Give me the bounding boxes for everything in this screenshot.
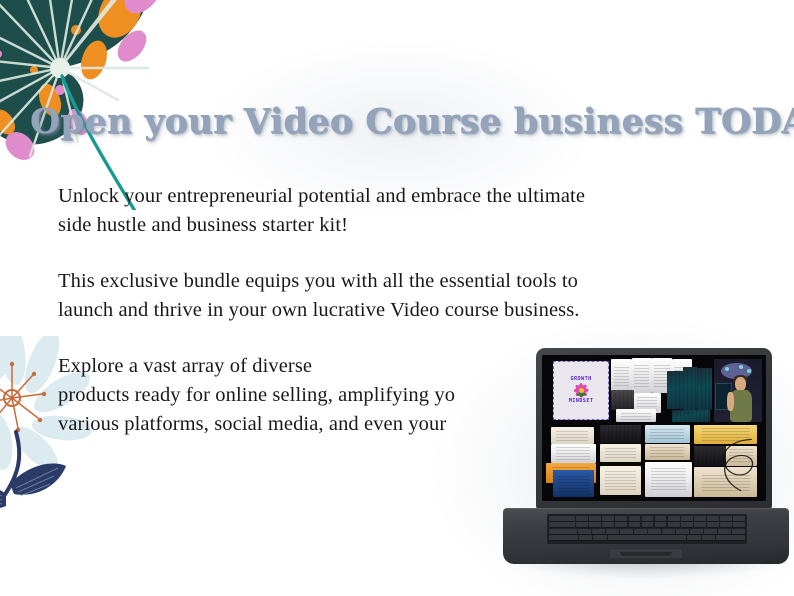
pixel-flower-icon [574, 383, 589, 398]
spark-icon [725, 367, 729, 371]
keyboard-key [549, 522, 575, 527]
product-thumbnail [553, 470, 593, 496]
keyboard-key [578, 529, 591, 534]
laptop-screen: GROWTH [542, 355, 766, 501]
thumbnail-detail [672, 410, 710, 422]
keyboard-key [648, 529, 661, 534]
keyboard-key [694, 516, 706, 521]
keyboard-key [629, 516, 641, 521]
keyboard-key [593, 535, 606, 540]
thumbnail-detail [667, 371, 683, 409]
product-thumbnail [694, 446, 725, 466]
keyboard-key [589, 522, 601, 527]
paragraph-1: Unlock your entrepreneurial potential an… [58, 182, 718, 240]
product-thumbnail [697, 368, 713, 410]
keyboard-row [549, 529, 745, 534]
thumbnail-detail [558, 475, 589, 492]
keyboard-key [589, 516, 601, 521]
keyboard-key [579, 535, 592, 540]
product-thumbnail [645, 425, 690, 443]
keyboard-key [732, 529, 745, 534]
product-thumbnail [616, 409, 656, 422]
thumbnail-detail [702, 473, 750, 492]
keyboard-key [629, 522, 641, 527]
thumbnail-detail [556, 430, 588, 441]
page-title: Open your Video Course business TODAY! [30, 104, 778, 140]
keyboard-key [549, 529, 577, 534]
product-thumbnail [611, 390, 633, 410]
keyboard-key [707, 516, 719, 521]
laptop-trackpad [609, 548, 683, 559]
keyboard-key [668, 522, 680, 527]
keyboard-key [642, 522, 654, 527]
thumbnail-detail [683, 367, 696, 411]
keyboard-key [687, 535, 700, 540]
product-thumbnail [694, 467, 757, 496]
thumbnail-detail [729, 449, 753, 462]
product-thumbnail [672, 410, 710, 422]
keyboard-key [676, 529, 689, 534]
keyboard-key [733, 516, 745, 521]
spark-icon [739, 365, 743, 369]
keyboard-key [549, 516, 575, 521]
thumbnail-detail [651, 468, 687, 490]
keyboard-key [576, 516, 588, 521]
product-thumbnail [551, 444, 596, 463]
thumbnail-detail [702, 428, 750, 440]
person-head [735, 377, 745, 391]
thumbnail-detail [614, 365, 629, 386]
keyboard-key [634, 529, 647, 534]
keyboard-key [615, 516, 627, 521]
product-thumbnail [551, 427, 594, 445]
keyboard-key [716, 535, 745, 540]
keyboard-key [615, 522, 627, 527]
thumbnail-detail [650, 428, 684, 439]
product-thumbnail [611, 359, 631, 391]
keyboard-key [694, 522, 706, 527]
person-arm [727, 392, 734, 411]
laptop-base [503, 508, 789, 564]
keyboard-key [642, 516, 654, 521]
product-thumbnail [632, 358, 652, 393]
growth-mindset-line2: MINDSET [569, 399, 594, 404]
keyboard-key [592, 529, 605, 534]
keyboard-key [602, 516, 614, 521]
laptop-mockup: GROWTH [498, 340, 794, 592]
thumbnail-detail [605, 471, 636, 490]
thumbnail-detail [650, 447, 684, 457]
thumbnail-detail [694, 446, 725, 466]
keyboard-row [549, 516, 745, 521]
keyboard-key [702, 535, 715, 540]
keyboard-key [668, 516, 680, 521]
product-thumbnail [667, 371, 683, 409]
promo-slide: Open your Video Course business TODAY! U… [0, 0, 794, 596]
keyboard-key [655, 522, 667, 527]
product-thumbnail [645, 462, 692, 497]
keyboard-key [549, 535, 578, 540]
keyboard-key [733, 522, 745, 527]
product-thumbnail [645, 444, 690, 460]
keyboard-key [707, 522, 719, 527]
keyboard-key [718, 529, 731, 534]
product-collage: GROWTH [542, 355, 766, 501]
product-thumbnail [726, 446, 757, 466]
keyboard-key [608, 535, 686, 540]
keyboard-key [720, 516, 732, 521]
keyboard-key [602, 522, 614, 527]
product-thumbnail [600, 425, 640, 443]
thumbnail-detail [621, 411, 652, 419]
thumbnail-detail [611, 390, 633, 410]
growth-mindset-tile: GROWTH [553, 361, 609, 420]
keyboard-key [681, 522, 693, 527]
keyboard-key [720, 522, 732, 527]
product-thumbnail [600, 466, 640, 495]
paragraph-2: This exclusive bundle equips you with al… [58, 267, 718, 325]
product-thumbnail [600, 444, 640, 462]
keyboard-key [681, 516, 693, 521]
keyboard-key [655, 516, 667, 521]
product-thumbnail [694, 425, 757, 444]
product-thumbnail [683, 367, 696, 411]
thumbnail-detail [605, 447, 636, 458]
thumbnail-detail [634, 364, 649, 386]
laptop-lid: GROWTH [536, 348, 772, 510]
keyboard-row [549, 522, 745, 527]
laptop-keyboard [547, 514, 747, 544]
keyboard-key [606, 529, 619, 534]
keyboard-key [704, 529, 717, 534]
thumbnail-detail [600, 425, 640, 443]
person-illustration-tile [714, 359, 761, 422]
keyboard-key [620, 529, 633, 534]
growth-mindset-line1: GROWTH [570, 377, 591, 382]
keyboard-row [549, 535, 745, 540]
keyboard-key [662, 529, 675, 534]
keyboard-key [576, 522, 588, 527]
thumbnail-detail [697, 368, 713, 410]
thumbnail-detail [556, 447, 590, 459]
keyboard-key [690, 529, 703, 534]
thumbnail-detail [637, 397, 657, 410]
